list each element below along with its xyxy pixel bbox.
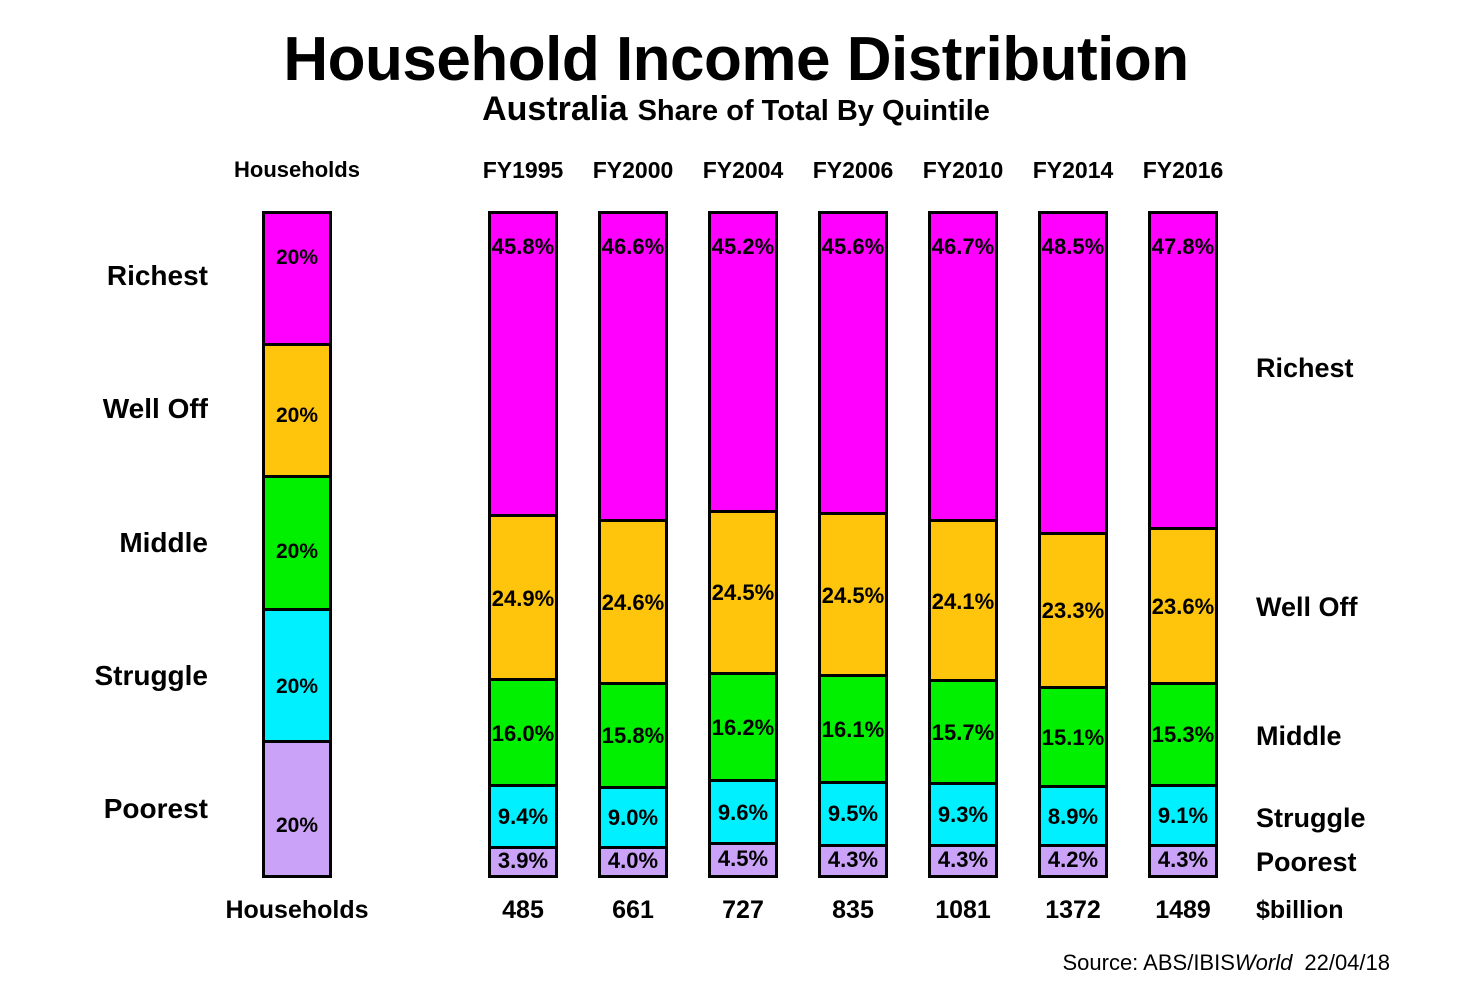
reference-segment-middle: 20% <box>265 478 329 610</box>
segment-value-label: 24.1% <box>931 591 995 613</box>
segment-value-label: 9.5% <box>821 803 885 825</box>
segment-value-label: 9.6% <box>711 802 775 824</box>
segment-fy2010-well-off: 24.1% <box>931 522 995 681</box>
segment-fy2014-well-off: 23.3% <box>1041 535 1105 689</box>
segment-fy2014-richest: 48.5% <box>1041 214 1105 535</box>
segment-fy2016-well-off: 23.6% <box>1151 530 1215 686</box>
segment-value-label: 24.5% <box>821 585 885 607</box>
column-header-fy2016: FY2016 <box>1128 157 1238 184</box>
reference-segment-value: 20% <box>265 247 329 268</box>
bar-fy2016: 47.8%23.6%15.3%9.1%4.3% <box>1148 211 1218 878</box>
column-header-fy2006: FY2006 <box>798 157 908 184</box>
segment-value-label: 45.6% <box>821 236 885 258</box>
total-value-fy1995: 485 <box>468 896 578 925</box>
segment-fy2004-richest: 45.2% <box>711 214 775 513</box>
column-header-fy2000: FY2000 <box>578 157 688 184</box>
segment-value-label: 46.7% <box>931 236 995 258</box>
segment-fy2006-poorest: 4.3% <box>821 847 885 875</box>
segment-fy2000-struggle: 9.0% <box>601 789 665 849</box>
segment-value-label: 9.0% <box>601 807 665 829</box>
segment-fy2016-middle: 15.3% <box>1151 685 1215 786</box>
segment-value-label: 9.1% <box>1151 805 1215 827</box>
segment-value-label: 15.1% <box>1041 727 1105 749</box>
totals-row-label: Households <box>222 896 372 925</box>
bar-fy1995: 45.8%24.9%16.0%9.4%3.9% <box>488 211 558 878</box>
bar-fy2000: 46.6%24.6%15.8%9.0%4.0% <box>598 211 668 878</box>
segment-fy2000-richest: 46.6% <box>601 214 665 522</box>
segment-fy2006-well-off: 24.5% <box>821 515 885 677</box>
bar-fy2014: 48.5%23.3%15.1%8.9%4.2% <box>1038 211 1108 878</box>
total-value-fy2004: 727 <box>688 896 798 925</box>
reference-segment-poorest: 20% <box>265 743 329 875</box>
segment-value-label: 23.3% <box>1041 600 1105 622</box>
column-header-fy2010: FY2010 <box>908 157 1018 184</box>
bar-households-reference: 20%20%20%20%20% <box>262 211 332 878</box>
segment-value-label: 16.1% <box>821 719 885 741</box>
segment-fy2014-poorest: 4.2% <box>1041 847 1105 875</box>
segment-value-label: 16.0% <box>491 723 555 745</box>
segment-fy2014-middle: 15.1% <box>1041 689 1105 789</box>
left-label-poorest: Poorest <box>28 793 208 825</box>
segment-value-label: 24.9% <box>491 588 555 610</box>
segment-value-label: 15.8% <box>601 725 665 747</box>
segment-value-label: 4.3% <box>1151 849 1215 871</box>
segment-fy2000-middle: 15.8% <box>601 685 665 789</box>
bar-fy2006: 45.6%24.5%16.1%9.5%4.3% <box>818 211 888 878</box>
reference-segment-richest: 20% <box>265 214 329 346</box>
segment-value-label: 47.8% <box>1151 236 1215 258</box>
segment-value-label: 24.6% <box>601 592 665 614</box>
reference-segment-well-off: 20% <box>265 346 329 478</box>
segment-fy2010-struggle: 9.3% <box>931 785 995 846</box>
page-title: Household Income Distribution <box>0 24 1472 95</box>
right-label-richest: Richest <box>1256 353 1354 384</box>
right-label-struggle: Struggle <box>1256 803 1366 834</box>
reference-segment-value: 20% <box>265 815 329 836</box>
left-label-middle: Middle <box>28 527 208 559</box>
segment-value-label: 4.2% <box>1041 849 1105 871</box>
segment-fy2006-struggle: 9.5% <box>821 784 885 847</box>
segment-fy2004-middle: 16.2% <box>711 675 775 782</box>
segment-fy1995-struggle: 9.4% <box>491 787 555 849</box>
total-value-fy2014: 1372 <box>1018 896 1128 925</box>
segment-value-label: 4.3% <box>821 849 885 871</box>
column-header-fy2004: FY2004 <box>688 157 798 184</box>
unit-label: $billion <box>1256 896 1344 925</box>
segment-value-label: 8.9% <box>1041 806 1105 828</box>
segment-fy1995-poorest: 3.9% <box>491 849 555 875</box>
segment-value-label: 4.0% <box>601 850 665 872</box>
segment-fy2004-poorest: 4.5% <box>711 845 775 875</box>
left-label-struggle: Struggle <box>28 660 208 692</box>
source-brand-italic: World <box>1235 950 1292 975</box>
subtitle-country: Australia <box>482 90 628 128</box>
segment-fy2004-struggle: 9.6% <box>711 782 775 845</box>
segment-fy2010-poorest: 4.3% <box>931 847 995 875</box>
right-label-poorest: Poorest <box>1256 847 1357 878</box>
reference-segment-value: 20% <box>265 676 329 697</box>
segment-value-label: 4.3% <box>931 849 995 871</box>
segment-value-label: 9.3% <box>931 804 995 826</box>
source-date: 22/04/18 <box>1304 950 1390 975</box>
segment-fy2006-middle: 16.1% <box>821 677 885 783</box>
reference-segment-struggle: 20% <box>265 611 329 743</box>
segment-fy2014-struggle: 8.9% <box>1041 788 1105 847</box>
reference-segment-value: 20% <box>265 541 329 562</box>
segment-fy2010-middle: 15.7% <box>931 682 995 786</box>
segment-fy1995-richest: 45.8% <box>491 214 555 517</box>
segment-fy2016-richest: 47.8% <box>1151 214 1215 530</box>
segment-value-label: 15.3% <box>1151 724 1215 746</box>
segment-fy2000-well-off: 24.6% <box>601 522 665 685</box>
segment-fy1995-middle: 16.0% <box>491 681 555 787</box>
segment-value-label: 48.5% <box>1041 236 1105 258</box>
total-value-fy2016: 1489 <box>1128 896 1238 925</box>
source-note: Source: ABS/IBISWorld22/04/18 <box>1062 950 1390 976</box>
segment-fy2000-poorest: 4.0% <box>601 849 665 875</box>
segment-fy2016-struggle: 9.1% <box>1151 787 1215 847</box>
subtitle-description: Share of Total By Quintile <box>638 95 990 127</box>
chart-subtitle: AustraliaShare of Total By Quintile <box>0 90 1472 129</box>
segment-value-label: 45.8% <box>491 236 555 258</box>
segment-value-label: 16.2% <box>711 717 775 739</box>
segment-value-label: 23.6% <box>1151 596 1215 618</box>
left-label-well-off: Well Off <box>28 393 208 425</box>
segment-fy2010-richest: 46.7% <box>931 214 995 522</box>
source-prefix: Source: ABS/IBIS <box>1062 950 1234 975</box>
segment-value-label: 15.7% <box>931 722 995 744</box>
right-label-middle: Middle <box>1256 721 1342 752</box>
segment-fy2004-well-off: 24.5% <box>711 513 775 675</box>
right-label-well-off: Well Off <box>1256 592 1358 623</box>
total-value-fy2000: 661 <box>578 896 688 925</box>
bar-fy2004: 45.2%24.5%16.2%9.6%4.5% <box>708 211 778 878</box>
segment-value-label: 4.5% <box>711 848 775 870</box>
segment-fy1995-well-off: 24.9% <box>491 517 555 682</box>
segment-value-label: 9.4% <box>491 806 555 828</box>
segment-fy2006-richest: 45.6% <box>821 214 885 515</box>
reference-segment-value: 20% <box>265 405 329 426</box>
column-header-fy1995: FY1995 <box>468 157 578 184</box>
total-value-fy2006: 835 <box>798 896 908 925</box>
segment-value-label: 45.2% <box>711 236 775 258</box>
chart-canvas: Household Income Distribution AustraliaS… <box>0 0 1472 989</box>
total-value-fy2010: 1081 <box>908 896 1018 925</box>
segment-value-label: 46.6% <box>601 236 665 258</box>
column-header-households: Households <box>222 157 372 183</box>
segment-fy2016-poorest: 4.3% <box>1151 847 1215 875</box>
left-label-richest: Richest <box>28 260 208 292</box>
segment-value-label: 24.5% <box>711 582 775 604</box>
bar-fy2010: 46.7%24.1%15.7%9.3%4.3% <box>928 211 998 878</box>
segment-value-label: 3.9% <box>491 850 555 872</box>
column-header-fy2014: FY2014 <box>1018 157 1128 184</box>
